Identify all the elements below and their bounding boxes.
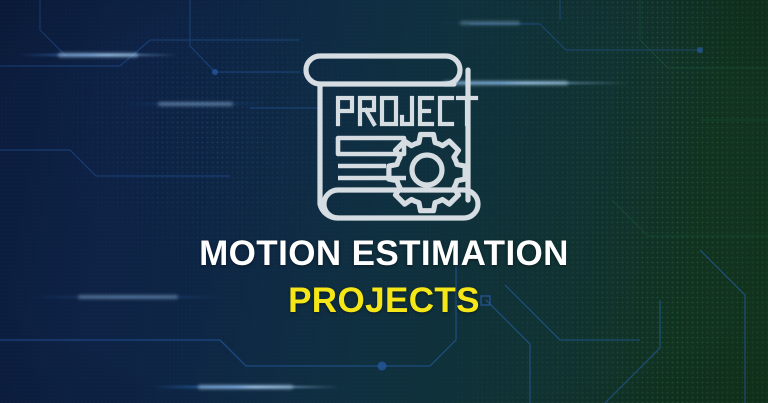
light-streak <box>430 22 550 24</box>
light-streak <box>120 103 270 105</box>
banner-root: MOTION ESTIMATION PROJECTS <box>0 0 768 403</box>
project-scroll-gear-glyph <box>296 48 482 226</box>
headline-line-primary: MOTION ESTIMATION <box>0 236 768 271</box>
project-scroll-gear-icon <box>296 48 482 226</box>
light-streak <box>18 54 178 56</box>
headline-line-accent: PROJECTS <box>0 283 768 318</box>
light-streak <box>150 386 340 388</box>
page-title: MOTION ESTIMATION PROJECTS <box>0 236 768 318</box>
